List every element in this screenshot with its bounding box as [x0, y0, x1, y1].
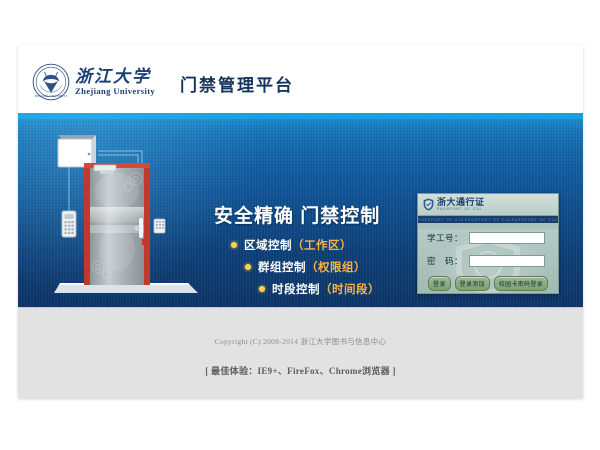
- login-form: 学工号： 密 码： 登录 登录添加 校园卡密码登录: [418, 229, 558, 294]
- feature-label: 区域控制: [244, 237, 292, 253]
- feature-sublabel: （工作区）: [292, 237, 352, 253]
- site-header: ZHEJIANG UNIVERSITY 浙江大学 Zhejiang Univer…: [18, 45, 583, 114]
- login-panel-header: 浙大通行证 PASSPORT OF ZJU: [418, 194, 558, 216]
- strip-text: PASSPORT OF ZJU: [512, 218, 558, 222]
- username-row: 学工号：: [418, 229, 558, 246]
- feature-item: 时段控制 （时间段）: [223, 281, 423, 297]
- bullet-dot-icon: [245, 264, 251, 270]
- feature-label: 群组控制: [258, 259, 306, 275]
- password-row: 密 码：: [418, 252, 558, 269]
- feature-sublabel: （时间段）: [320, 281, 380, 297]
- strip-text: PASSPORT OF ZJU: [418, 218, 464, 222]
- svg-text:ZHEJIANG UNIVERSITY: ZHEJIANG UNIVERSITY: [35, 94, 69, 98]
- feature-list: 区域控制 （工作区） 群组控制 （权限组） 时段控制 （时间段）: [223, 237, 423, 303]
- password-label: 密 码：: [427, 255, 469, 267]
- bullet-dot-icon: [259, 286, 265, 292]
- password-input[interactable]: [469, 255, 545, 267]
- feature-label: 时段控制: [272, 281, 320, 297]
- logo-chinese-name: 浙江大学: [75, 68, 155, 85]
- page-title: 门禁管理平台: [180, 71, 294, 96]
- feature-sublabel: （权限组）: [306, 259, 366, 275]
- username-label: 学工号：: [427, 232, 469, 244]
- login-panel: 浙大通行证 PASSPORT OF ZJU PASSPORT OF ZJU PA…: [417, 193, 559, 294]
- login-panel-strip: PASSPORT OF ZJU PASSPORT OF ZJU PASSPORT…: [418, 216, 558, 223]
- zju-seal-icon: ZHEJIANG UNIVERSITY: [32, 63, 70, 101]
- campus-card-login-button[interactable]: 校园卡密码登录: [494, 276, 548, 291]
- banner-slogan: 安全精确 门禁控制: [214, 201, 380, 228]
- login-button[interactable]: 登录: [428, 276, 451, 291]
- login-panel-title: 浙大通行证: [437, 198, 485, 207]
- browser-compat-note: [ 最佳体验：IE9+、FireFox、Chrome浏览器 ]: [18, 364, 583, 377]
- username-input[interactable]: [469, 232, 545, 244]
- feature-item: 群组控制 （权限组）: [223, 259, 423, 275]
- strip-text: PASSPORT OF ZJU: [465, 218, 511, 222]
- shield-icon: [423, 198, 434, 211]
- hero-banner: 安全精确 门禁控制 区域控制 （工作区） 群组控制 （权限组） 时段控制 （时间…: [18, 113, 583, 307]
- university-logo[interactable]: ZHEJIANG UNIVERSITY 浙江大学 Zhejiang Univer…: [32, 63, 155, 101]
- login-add-button[interactable]: 登录添加: [455, 276, 490, 291]
- bullet-dot-icon: [231, 242, 237, 248]
- copyright-text: Copyright (C) 2008-2014 浙江大学图书与信息中心: [18, 336, 583, 347]
- login-panel-title-en: PASSPORT OF ZJU: [437, 208, 485, 212]
- access-control-door-illustration: [38, 121, 213, 307]
- page-card: ZHEJIANG UNIVERSITY 浙江大学 Zhejiang Univer…: [18, 45, 583, 398]
- login-button-row: 登录 登录添加 校园卡密码登录: [418, 276, 558, 291]
- site-footer: Copyright (C) 2008-2014 浙江大学图书与信息中心 [ 最佳…: [18, 307, 583, 398]
- feature-item: 区域控制 （工作区）: [223, 237, 423, 253]
- logo-english-name: Zhejiang University: [75, 87, 155, 96]
